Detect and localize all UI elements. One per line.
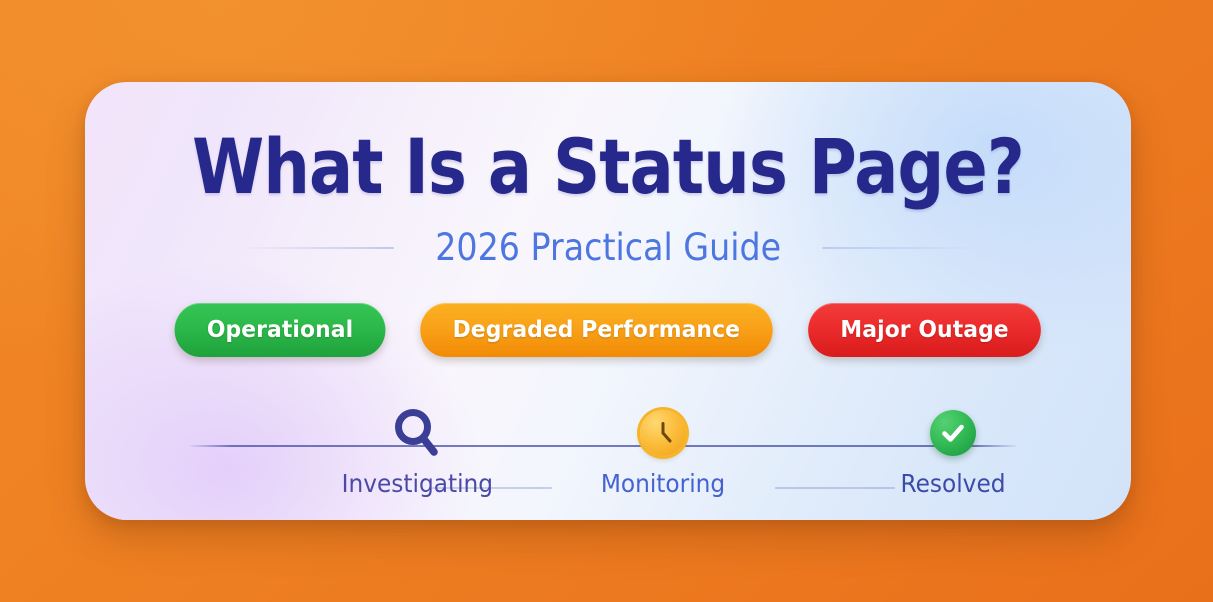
poster-background: What Is a Status Page? 2026 Practical Gu… [0, 0, 1213, 602]
card-content: What Is a Status Page? 2026 Practical Gu… [85, 82, 1131, 520]
timeline-step-1-icon-slot [336, 397, 496, 469]
check-circle-icon [930, 410, 976, 456]
timeline-step-2-icon-slot [583, 397, 743, 469]
status-badge-major-outage[interactable]: Major Outage [808, 303, 1041, 357]
page-title: What Is a Status Page? [158, 129, 1058, 205]
status-badge-operational[interactable]: Operational [175, 303, 386, 357]
subtitle-row: 2026 Practical Guide [85, 229, 1131, 266]
timeline-step-investigating[interactable]: Investigating [336, 397, 496, 496]
status-badge-degraded-performance[interactable]: Degraded Performance [420, 303, 772, 357]
timeline-step-3-label: Resolved [879, 471, 1028, 496]
timeline-step-2-label: Monitoring [589, 471, 738, 496]
timeline-step-monitoring[interactable]: Monitoring [583, 397, 743, 496]
timeline-step-1-label: Investigating [342, 471, 491, 496]
magnifying-glass-icon [389, 405, 443, 461]
timeline-step-3-icon-slot [873, 397, 1033, 469]
incident-timeline: Investigating Monitoring [190, 397, 1016, 497]
status-page-card: What Is a Status Page? 2026 Practical Gu… [85, 82, 1131, 520]
subtitle-divider-left [244, 247, 394, 249]
timeline-step-resolved[interactable]: Resolved [873, 397, 1033, 496]
status-badge-row: Operational Degraded Performance Major O… [85, 303, 1131, 357]
subtitle-divider-right [822, 247, 972, 249]
clock-icon [640, 410, 686, 456]
page-subtitle: 2026 Practical Guide [435, 229, 781, 266]
